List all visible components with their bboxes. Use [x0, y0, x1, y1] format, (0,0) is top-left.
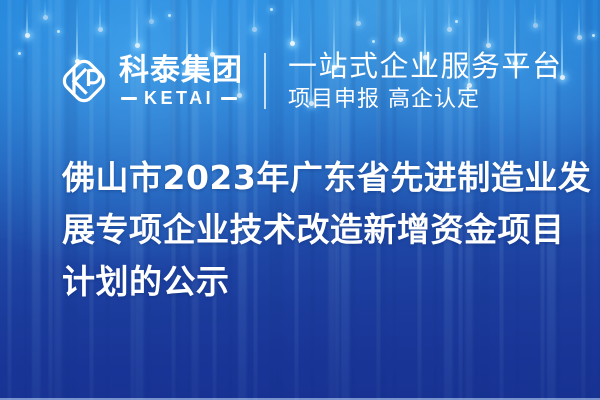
- falling-particle-icon: [578, 0, 580, 38]
- glow-dot-icon: [372, 40, 375, 43]
- wordmark-dash-left-icon: [121, 97, 137, 100]
- brand-name-cn: 科泰集团: [119, 55, 243, 87]
- glow-dot-icon: [455, 20, 458, 23]
- glow-dot-icon: [270, 8, 273, 11]
- falling-particle-icon: [448, 0, 450, 30]
- promotional-banner: 科泰集团 KETAI 一站式企业服务平台 项目申报 高企认定 佛山市2023年广…: [0, 0, 600, 400]
- falling-particle-icon: [26, 0, 28, 36]
- header-divider: [264, 53, 266, 109]
- falling-particle-icon: [99, 0, 101, 30]
- falling-particle-icon: [150, 0, 152, 22]
- brand-wordmark: 科泰集团 KETAI: [119, 55, 243, 108]
- wordmark-dash-right-icon: [221, 97, 237, 100]
- headline: 佛山市2023年广东省先进制造业发 展专项企业技术改造新增资金项目 计划的公示: [62, 152, 562, 308]
- headline-line-3: 计划的公示: [62, 256, 562, 308]
- glow-dot-icon: [592, 34, 595, 37]
- falling-particle-icon: [534, 0, 536, 26]
- glow-dot-icon: [168, 14, 171, 17]
- falling-particle-icon: [253, 0, 255, 30]
- falling-particle-icon: [487, 0, 489, 46]
- ketai-diamond-kp-logo-icon: [58, 55, 110, 107]
- falling-particle-icon: [357, 0, 359, 24]
- tagline-primary: 一站式企业服务平台: [288, 50, 563, 82]
- falling-particle-icon: [44, 0, 46, 18]
- tagline-secondary: 项目申报 高企认定: [288, 87, 563, 112]
- headline-line-1: 佛山市2023年广东省先进制造业发: [62, 152, 562, 204]
- brand-tagline: 一站式企业服务平台 项目申报 高企认定: [288, 50, 563, 112]
- brand-name-en-row: KETAI: [121, 89, 243, 107]
- glow-dot-icon: [57, 30, 60, 33]
- falling-particle-icon: [399, 0, 401, 40]
- brand-name-en: KETAI: [144, 89, 214, 107]
- headline-line-2: 展专项企业技术改造新增资金项目: [62, 204, 562, 256]
- falling-particle-icon: [136, 0, 138, 46]
- banner-header: 科泰集团 KETAI 一站式企业服务平台 项目申报 高企认定: [0, 46, 600, 116]
- falling-particle-icon: [291, 0, 293, 44]
- brand-logo[interactable]: 科泰集团 KETAI: [58, 55, 243, 108]
